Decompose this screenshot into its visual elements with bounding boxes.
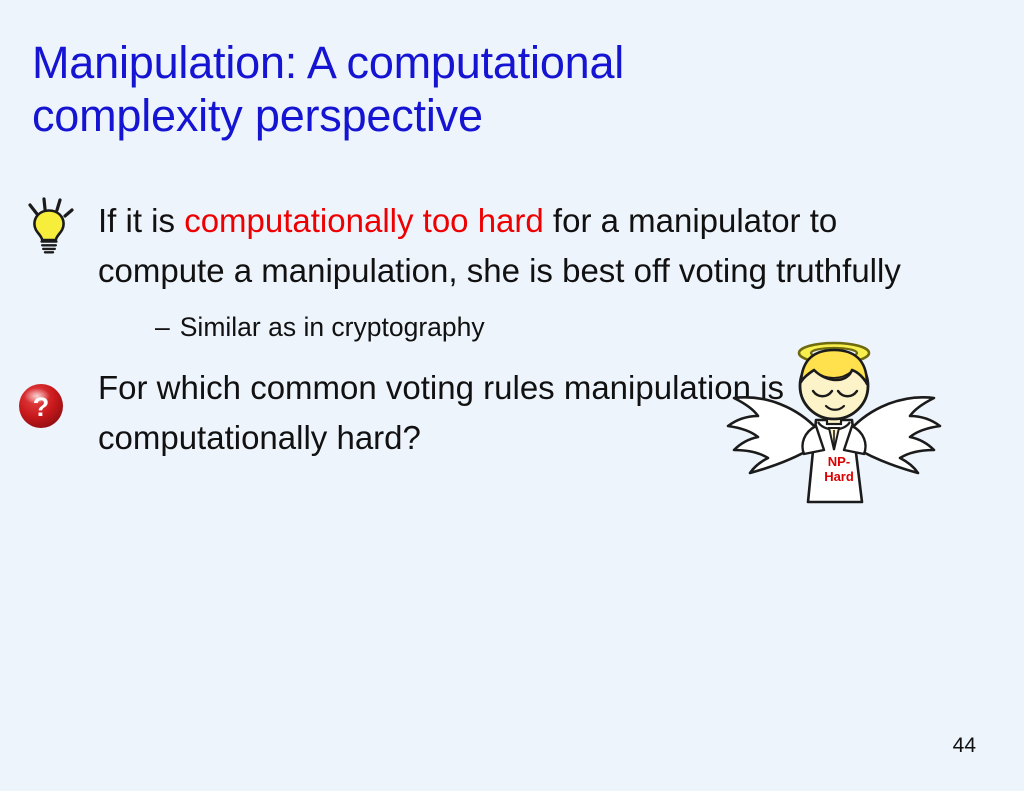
svg-text:?: ?: [33, 392, 50, 422]
lightbulb-icon: [18, 196, 80, 258]
bullet-item-1: If it is computationally too hard for a …: [0, 196, 1024, 347]
bullet-1-text-part-1: If it is: [98, 202, 184, 239]
page-number: 44: [953, 734, 976, 758]
sub-bullet-label: Similar as in cryptography: [180, 307, 485, 347]
bullet-1-highlight: computationally too hard: [184, 202, 544, 239]
bullet-1-text: If it is computationally too hard for a …: [98, 196, 928, 295]
angel-illustration: NP- Hard: [712, 338, 956, 508]
page-title: Manipulation: A computational complexity…: [32, 36, 912, 142]
slide-canvas: Manipulation: A computational complexity…: [0, 0, 1024, 791]
sub-bullet-dash: –: [155, 307, 170, 347]
question-mark-badge-icon: ?: [12, 377, 74, 439]
